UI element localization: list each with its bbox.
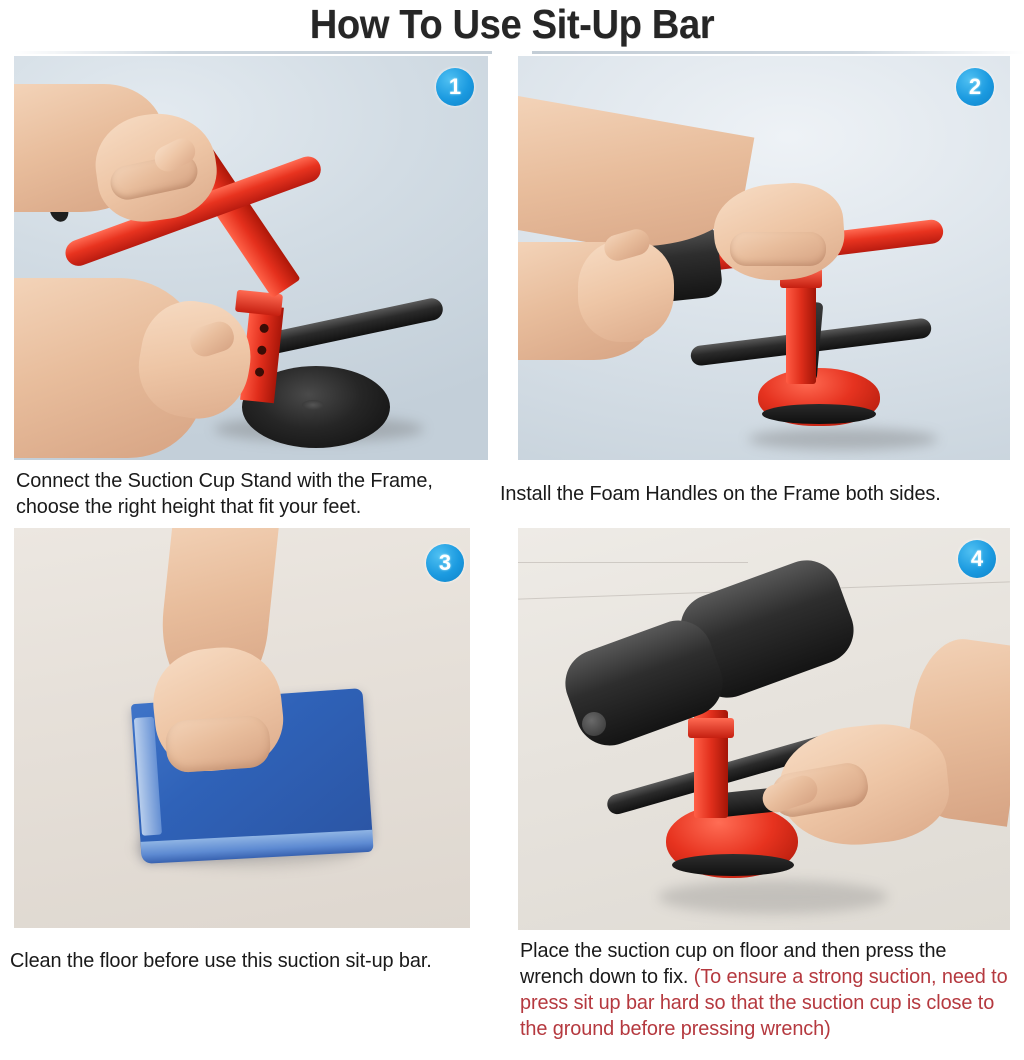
step-badge-4: 4 <box>958 540 996 578</box>
step-photo-2: 2 <box>518 56 1010 460</box>
step-photo-4: 4 <box>518 528 1010 930</box>
step-badge-1: 1 <box>436 68 474 106</box>
infographic-page: How To Use Sit-Up Bar <box>0 0 1024 1060</box>
floor-tile-seam <box>518 562 748 563</box>
product-shadow <box>748 428 938 450</box>
step-photo-3: 3 <box>14 528 470 928</box>
step-caption-3: Clean the floor before use this suction … <box>10 948 495 974</box>
step-photo-1: 1 <box>14 56 488 460</box>
step-caption-2: Install the Foam Handles on the Frame bo… <box>500 481 1008 507</box>
adjust-collar <box>688 718 734 738</box>
adjust-hole <box>257 345 267 355</box>
foam-end-cap <box>582 712 606 736</box>
step-badge-3: 3 <box>426 544 464 582</box>
step-caption-1: Connect the Suction Cup Stand with the F… <box>16 468 501 520</box>
fingers <box>164 714 271 773</box>
step-badge-2: 2 <box>956 68 994 106</box>
title-bar: How To Use Sit-Up Bar <box>0 0 1024 52</box>
fingers-right <box>730 232 826 266</box>
suction-base-rim <box>762 404 876 424</box>
product-shadow <box>658 880 888 914</box>
step-caption-4: Place the suction cup on floor and then … <box>520 938 1009 1042</box>
title-divider-right <box>532 51 1024 54</box>
adjust-hole <box>255 367 265 377</box>
adjust-hole <box>259 323 269 333</box>
page-title: How To Use Sit-Up Bar <box>36 1 988 47</box>
suction-cup-center <box>302 400 324 410</box>
suction-base-rim <box>672 854 794 876</box>
title-divider-left <box>14 51 492 54</box>
